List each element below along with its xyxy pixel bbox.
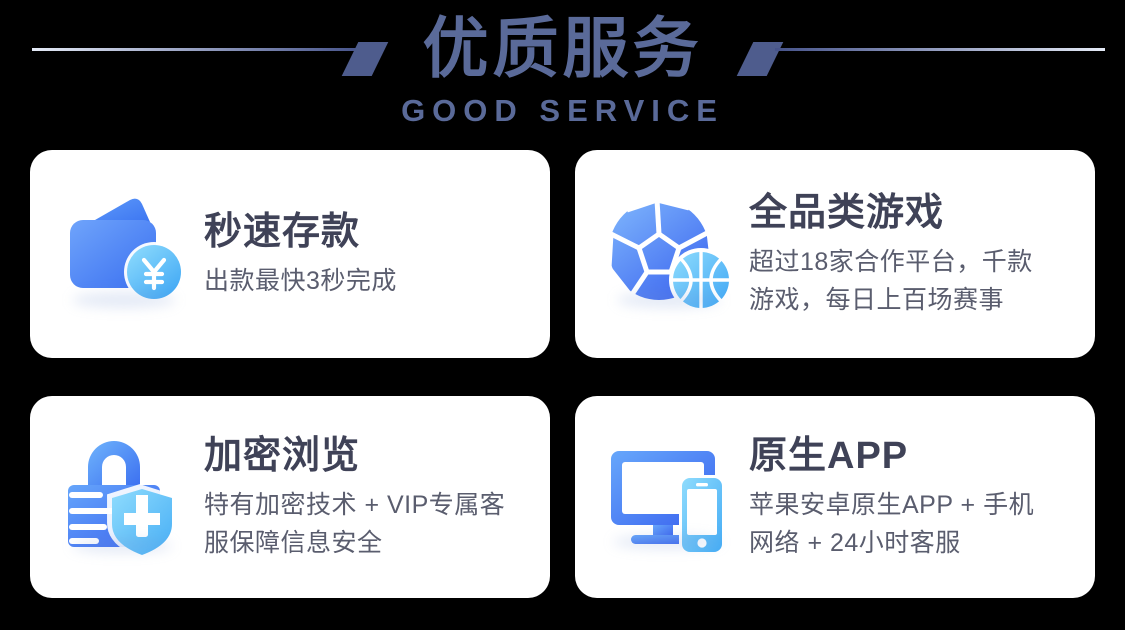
feature-card-native-app[interactable]: 原生APP 苹果安卓原生APP + 手机 网络 + 24小时客服 [575,396,1095,598]
soccer-basketball-icon [603,188,735,320]
feature-card-games[interactable]: 全品类游戏 超过18家合作平台，千款 游戏，每日上百场赛事 [575,150,1095,358]
card-description: 超过18家合作平台，千款 游戏，每日上百场赛事 [749,243,1081,319]
card-desc-line: 游戏，每日上百场赛事 [749,281,1081,319]
monitor-phone-icon [603,431,735,563]
card-desc-line: 苹果安卓原生APP + 手机 [749,486,1081,524]
card-desc-line: 特有加密技术 + VIP专属客 [204,486,536,524]
card-title: 全品类游戏 [749,189,1081,237]
banner-header: 优质服务 GOOD SERVICE [0,0,1125,146]
card-desc-line: 出款最快3秒完成 [204,262,536,300]
feature-card-text: 全品类游戏 超过18家合作平台，千款 游戏，每日上百场赛事 [749,189,1095,319]
card-title: 秒速存款 [204,208,536,256]
feature-card-grid: 秒速存款 出款最快3秒完成 [30,150,1095,602]
card-desc-line: 超过18家合作平台，千款 [749,243,1081,281]
card-title: 原生APP [749,432,1081,480]
card-description: 苹果安卓原生APP + 手机 网络 + 24小时客服 [749,486,1081,562]
card-desc-line: 服保障信息安全 [204,524,536,562]
card-description: 出款最快3秒完成 [204,262,536,300]
page-title: 优质服务 [0,6,1125,90]
card-description: 特有加密技术 + VIP专属客 服保障信息安全 [204,486,536,562]
card-desc-line: 网络 + 24小时客服 [749,524,1081,562]
feature-card-deposit[interactable]: 秒速存款 出款最快3秒完成 [30,150,550,358]
feature-card-text: 加密浏览 特有加密技术 + VIP专属客 服保障信息安全 [204,432,550,562]
lock-shield-icon [58,431,190,563]
feature-card-text: 秒速存款 出款最快3秒完成 [204,208,550,300]
wallet-yen-icon [58,188,190,320]
page-subtitle: GOOD SERVICE [0,92,1125,130]
card-title: 加密浏览 [204,432,536,480]
feature-card-encryption[interactable]: 加密浏览 特有加密技术 + VIP专属客 服保障信息安全 [30,396,550,598]
feature-card-text: 原生APP 苹果安卓原生APP + 手机 网络 + 24小时客服 [749,432,1095,562]
promo-banner: 优质服务 GOOD SERVICE [0,0,1125,630]
